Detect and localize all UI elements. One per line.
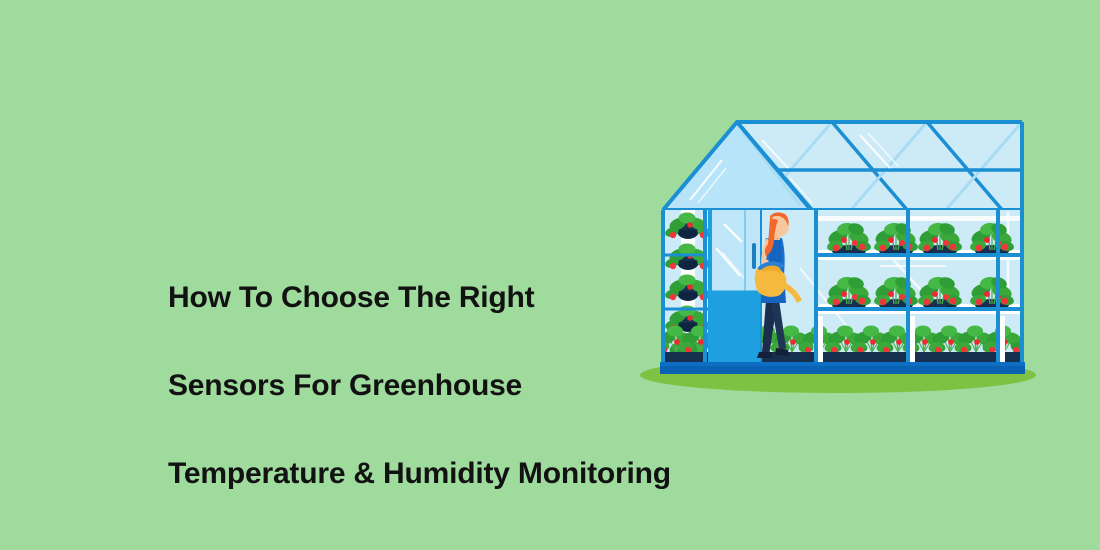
shelf-lower (818, 304, 1022, 314)
floor-plant (954, 326, 999, 354)
shelf-plant (826, 221, 872, 257)
floor-plant (982, 326, 1027, 354)
greenhouse-body (654, 210, 1027, 374)
banner-root: How To Choose The Right Sensors For Gree… (0, 0, 1100, 550)
floor-plant (850, 326, 895, 354)
headline-line-1: How To Choose The Right (168, 276, 688, 320)
greenhouse-frame-lines (663, 210, 1022, 368)
floor-plant (902, 326, 947, 354)
floor-plant (876, 326, 921, 354)
shelf-plant (917, 275, 963, 311)
shelf-plant (873, 221, 919, 257)
floor-plant (746, 326, 791, 354)
shelf-plant (969, 221, 1015, 257)
gardener-figure (755, 212, 802, 358)
floor-planter (822, 352, 906, 366)
greenhouse-base (660, 362, 1025, 374)
page-title: How To Choose The Right Sensors For Gree… (168, 232, 688, 540)
watering-can (755, 263, 802, 303)
floor-plant (770, 326, 815, 354)
headline-line-3: Temperature & Humidity Monitoring (168, 452, 688, 496)
floor-planter (758, 352, 816, 366)
shelf-plant (917, 221, 963, 257)
floor-plant (824, 326, 869, 354)
greenhouse-door (708, 210, 760, 362)
ground-shadow (640, 357, 1036, 393)
door-handle (752, 243, 756, 269)
greenhouse-roof (663, 122, 1022, 226)
floor-planter (912, 352, 996, 366)
shelf-plant (826, 275, 872, 311)
shelf-upper (818, 250, 1022, 260)
shelf-plant (969, 275, 1015, 311)
shelf-plant (873, 275, 919, 311)
floor-plant (798, 326, 843, 354)
floor-plant (928, 326, 973, 354)
floor-planter (1000, 352, 1022, 366)
headline-line-2: Sensors For Greenhouse (168, 364, 688, 408)
